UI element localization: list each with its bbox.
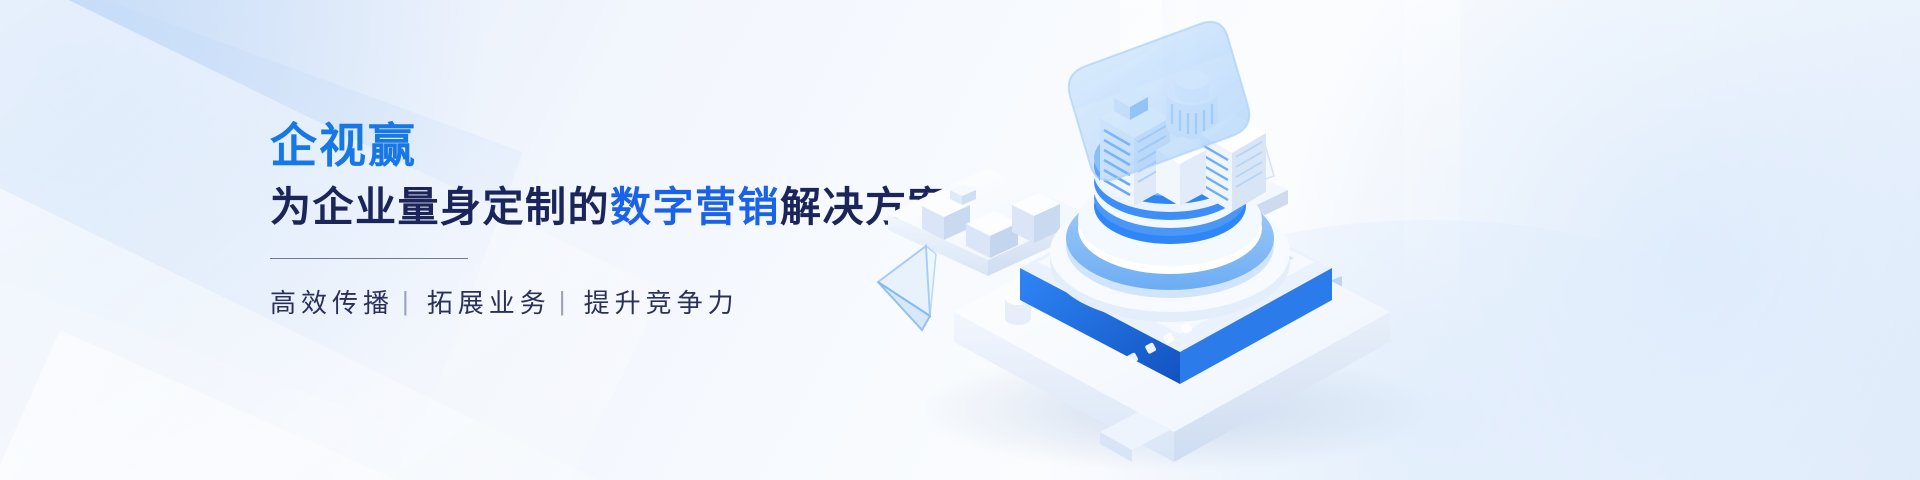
tagline-item-0: 高效传播	[270, 283, 394, 320]
tagline-separator-1: |	[559, 286, 571, 317]
headline-lead: 为企业量身定制的	[270, 184, 610, 230]
brand-title: 企视赢	[270, 120, 910, 173]
tagline-separator-0: |	[402, 286, 414, 317]
tagline: 高效传播 | 拓展业务 | 提升竞争力	[270, 283, 910, 320]
banner-copy: 企视赢 为企业量身定制的数字营销解决方案 高效传播 | 拓展业务 | 提升竞争力	[270, 120, 910, 320]
headline: 为企业量身定制的数字营销解决方案	[270, 183, 910, 232]
divider	[270, 258, 468, 259]
tagline-item-2: 提升竞争力	[584, 283, 739, 320]
hero-banner: 企视赢 为企业量身定制的数字营销解决方案 高效传播 | 拓展业务 | 提升竞争力	[0, 0, 1920, 480]
diagonal-shape-3	[0, 330, 699, 480]
tagline-item-1: 拓展业务	[427, 283, 551, 320]
isometric-illustration	[870, 0, 1920, 480]
headline-highlight: 数字营销	[610, 184, 780, 230]
wireframe-triangle	[878, 246, 936, 330]
